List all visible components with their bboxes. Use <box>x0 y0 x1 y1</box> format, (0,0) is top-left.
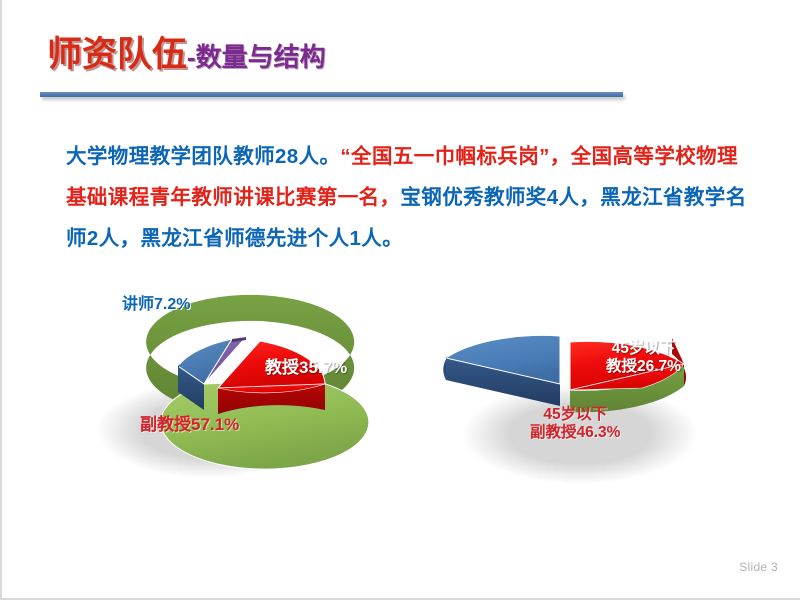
pie-label-fujiaoshou: 副教授57.1% <box>140 415 239 435</box>
title-structure-pie-svg <box>80 292 410 492</box>
body-run-2: “全国五一巾帼标兵岗”， <box>340 145 570 168</box>
presentation-slide: 师资队伍-数量与结构 大学物理教学团队教师28人。“全国五一巾帼标兵岗”，全国高… <box>0 0 800 600</box>
pie-label-line-1: 45岁以下 <box>530 406 620 424</box>
pie-label-line-1: 45岁以下 <box>606 340 681 358</box>
body-run-1: 大学物理教学团队教师28人。 <box>66 145 340 168</box>
pie-label-jiangshi: 讲师7.2% <box>122 296 190 315</box>
age-structure-pie-chart: 45岁以下 教授26.7% 45岁以下 副教授46.3% <box>420 302 750 502</box>
title-main-text: 师资队伍 <box>47 35 187 74</box>
slide-number: Slide 3 <box>739 560 778 574</box>
pie-slice-other-blue <box>443 335 560 406</box>
body-paragraph: 大学物理教学团队教师28人。“全国五一巾帼标兵岗”，全国高等学校物理基础课程青年… <box>66 136 756 259</box>
title-structure-pie-chart: 讲师7.2% 教授35.7% 副教授57.1% <box>80 292 410 492</box>
pie-label-line-2: 副教授46.3% <box>530 424 620 442</box>
pie-label-under45-jiaoshou: 45岁以下 教授26.7% <box>606 340 681 377</box>
age-structure-pie-svg <box>420 302 750 502</box>
page-title: 师资队伍-数量与结构 <box>47 26 326 77</box>
pie-label-jiaoshou: 教授35.7% <box>265 358 347 378</box>
title-divider-rule <box>40 92 623 97</box>
pie-label-line-2: 教授26.7% <box>606 358 681 376</box>
pie-label-under45-fujiaoshou: 45岁以下 副教授46.3% <box>530 406 620 443</box>
title-subtitle-text: -数量与结构 <box>187 42 326 72</box>
